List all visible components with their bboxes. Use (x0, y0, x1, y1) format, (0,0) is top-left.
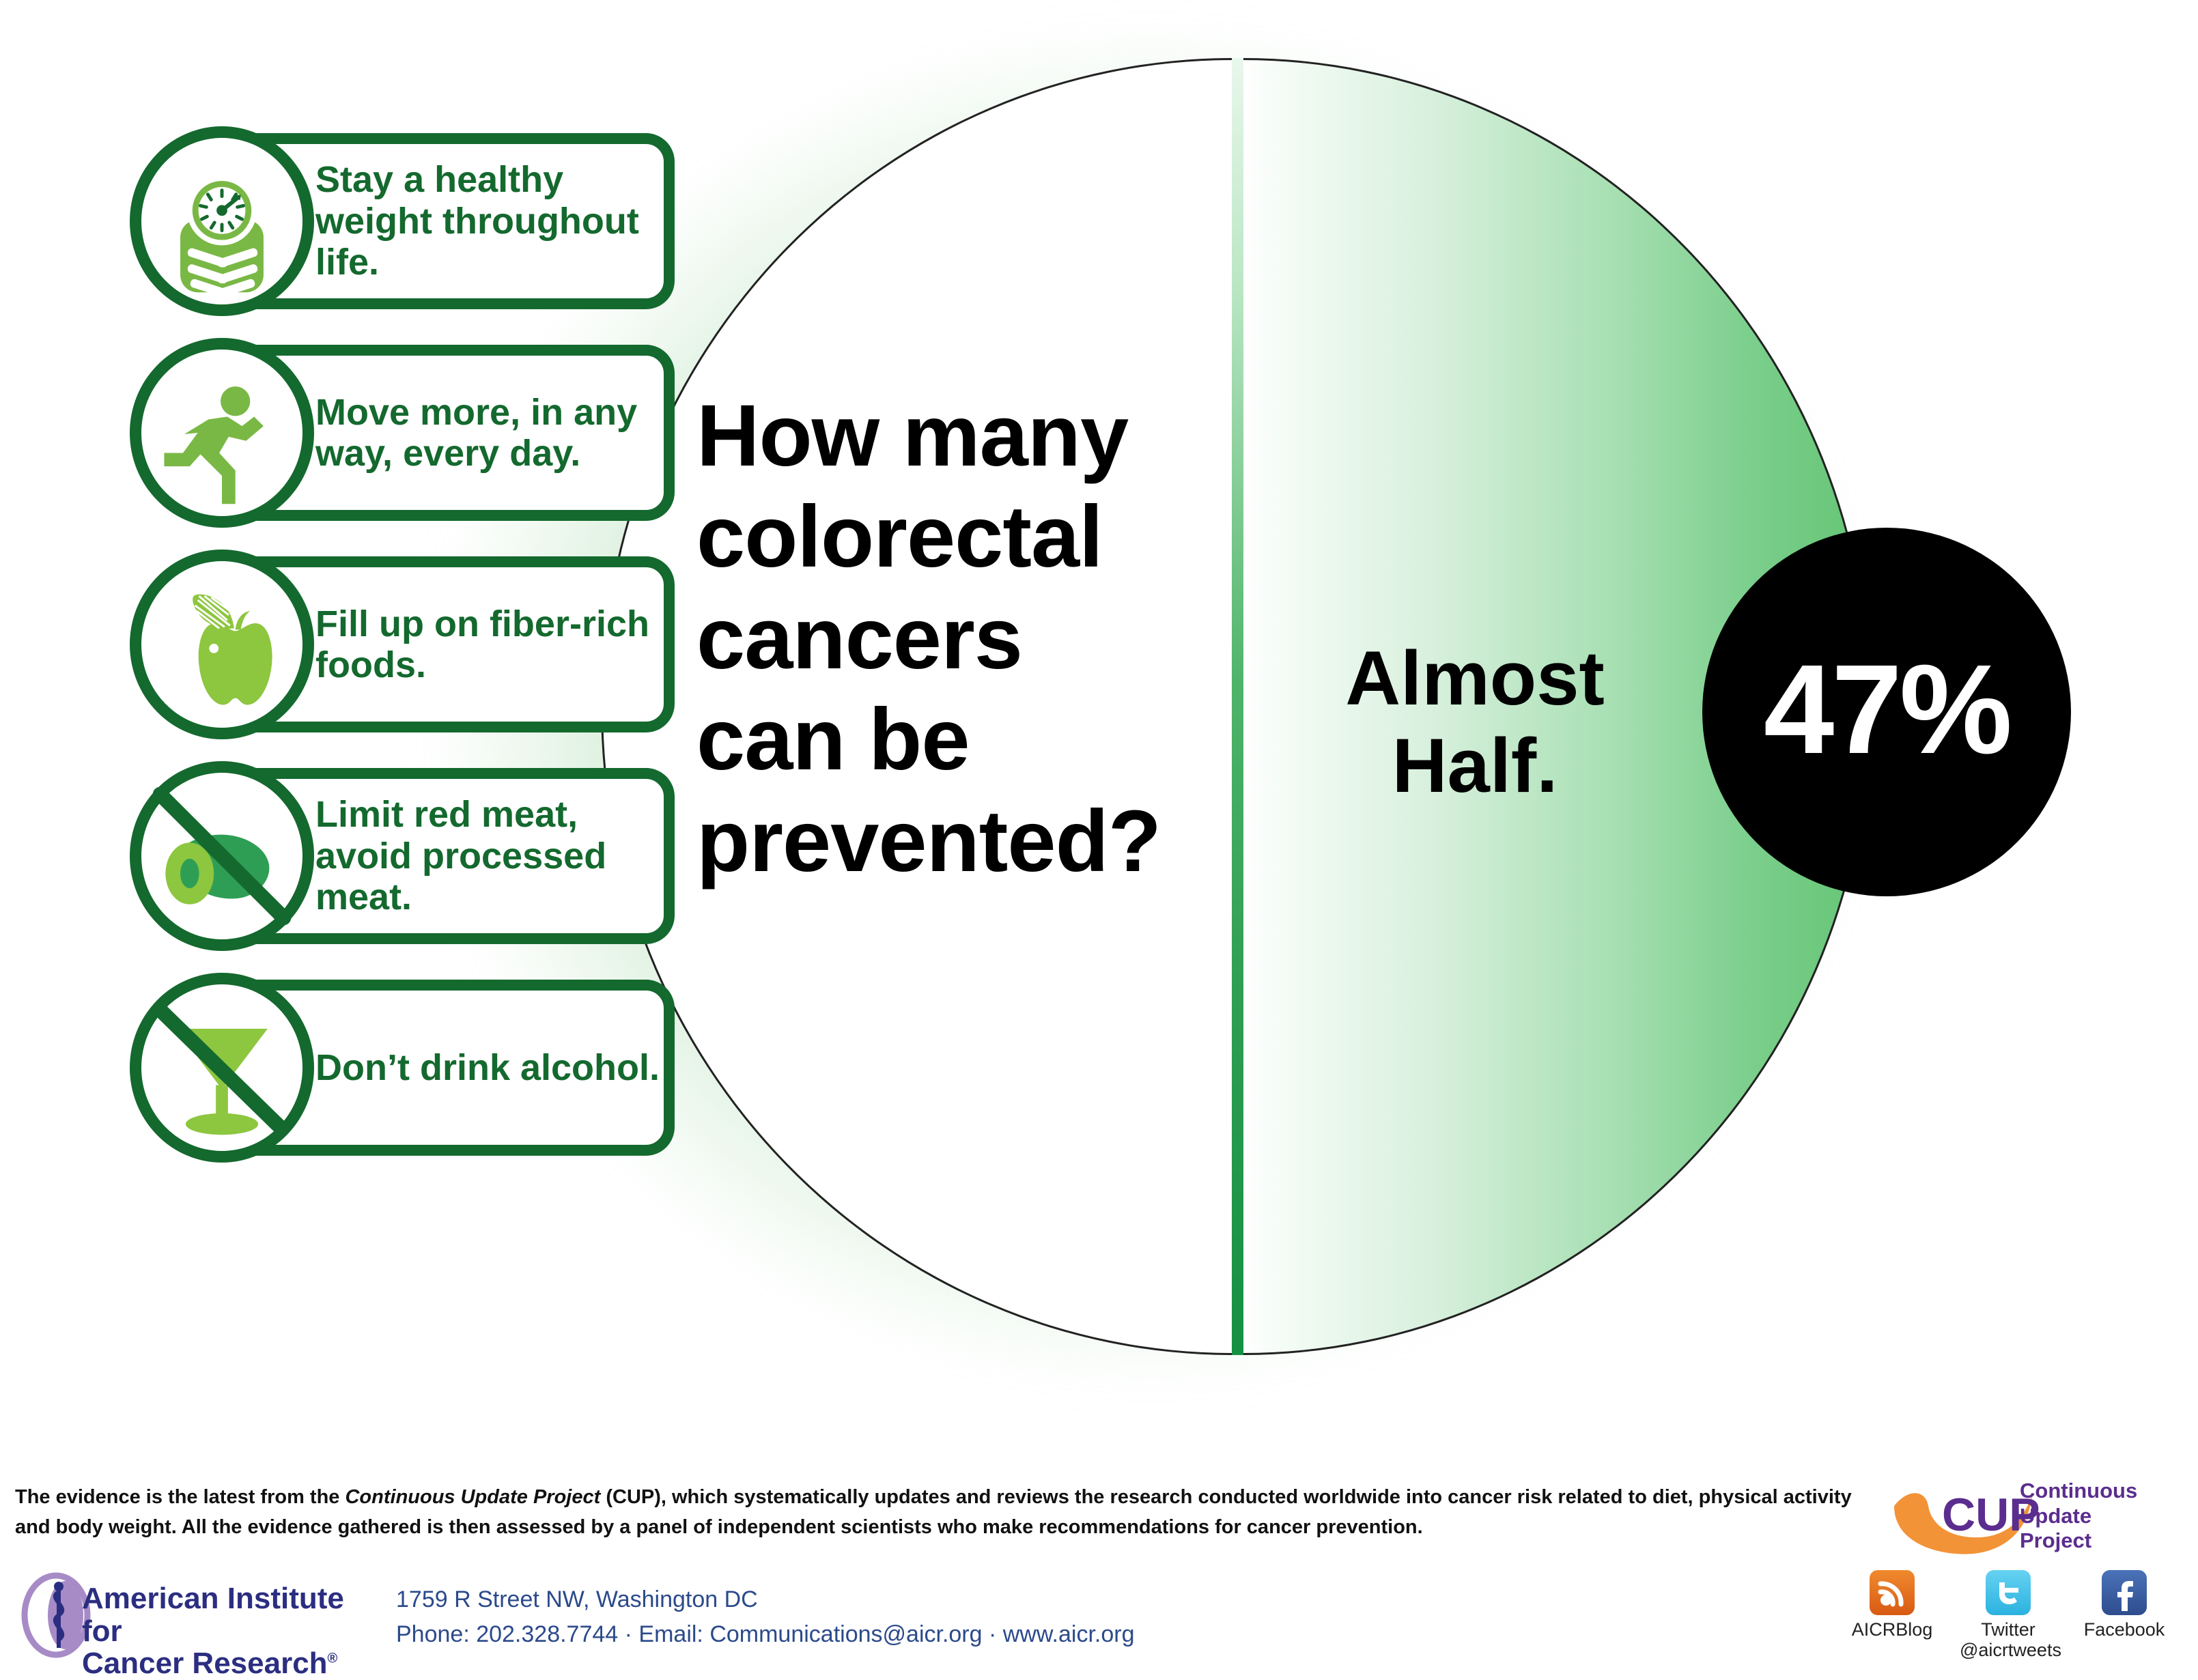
infographic-poster: How many colorectal cancers can be preve… (0, 0, 2198, 1666)
cup-line1: Continuous (2020, 1479, 2137, 1504)
aicr-name-line1: American Institute for (82, 1582, 344, 1648)
footer-note-part1: The evidence is the latest from the (15, 1486, 345, 1508)
social-link-blog[interactable]: AICRBlog (1844, 1570, 1941, 1660)
social-label: Twitter (1960, 1619, 2057, 1640)
social-link-twitter[interactable]: Twitter @aicrtweets (1960, 1570, 2057, 1660)
registered-mark: ® (328, 1651, 338, 1666)
aicr-address: 1759 R Street NW, Washington DC (396, 1582, 1215, 1617)
scale-icon (130, 126, 314, 316)
tip-label: Limit red meat, avoid processed meat. (315, 794, 664, 917)
footer-note: The evidence is the latest from the Cont… (15, 1483, 1859, 1542)
prevention-tips-list: Stay a healthy weight throughout life. (130, 126, 676, 1184)
answer-label: Almost Half. (1270, 635, 1680, 809)
footer-divider (0, 1446, 2198, 1447)
tip-label: Don’t drink alcohol. (315, 1047, 660, 1088)
percent-badge: 47% (1702, 528, 2071, 896)
cup-wordmark: Continuous Update Project (2020, 1479, 2137, 1554)
social-label: AICRBlog (1844, 1619, 1941, 1640)
tip-label: Move more, in any way, every day. (315, 392, 664, 474)
runner-icon (130, 338, 314, 528)
aicr-name-line2: Cancer Research (82, 1647, 328, 1680)
rss-blog-icon (1870, 1570, 1915, 1615)
page-headline: How many colorectal cancers can be preve… (696, 386, 1188, 892)
aicr-contact-block: 1759 R Street NW, Washington DC Phone: 2… (396, 1582, 1215, 1652)
social-handle: @aicrtweets (1960, 1640, 2057, 1660)
aicr-contact: Phone: 202.328.7744 · Email: Communicati… (396, 1617, 1215, 1652)
list-item[interactable]: Fill up on fiber-rich foods. (130, 550, 676, 741)
list-item[interactable]: Limit red meat, avoid processed meat. (130, 761, 676, 952)
twitter-icon (1986, 1570, 2031, 1615)
circle-divider (1232, 58, 1243, 1355)
no-alcohol-icon (130, 973, 314, 1163)
facebook-icon (2102, 1570, 2147, 1615)
footer-note-italic: Continuous Update Project (345, 1486, 600, 1508)
tip-label: Stay a healthy weight throughout life. (315, 159, 664, 283)
list-item[interactable]: Move more, in any way, every day. (130, 338, 676, 529)
social-link-facebook[interactable]: Facebook (2076, 1570, 2173, 1660)
no-meat-icon (130, 761, 314, 951)
apple-icon (130, 550, 314, 739)
cup-line2: Update (2020, 1504, 2137, 1529)
percent-value: 47% (1764, 637, 2010, 782)
social-links: AICRBlog Twitter @aicrtweets Facebook (1844, 1570, 2185, 1660)
list-item[interactable]: Don’t drink alcohol. (130, 973, 676, 1164)
cup-line3: Project (2020, 1528, 2137, 1554)
aicr-org-name: American Institute for Cancer Research® (82, 1582, 369, 1680)
tip-label: Fill up on fiber-rich foods. (315, 603, 664, 686)
social-label: Facebook (2076, 1619, 2173, 1640)
list-item[interactable]: Stay a healthy weight throughout life. (130, 126, 676, 317)
